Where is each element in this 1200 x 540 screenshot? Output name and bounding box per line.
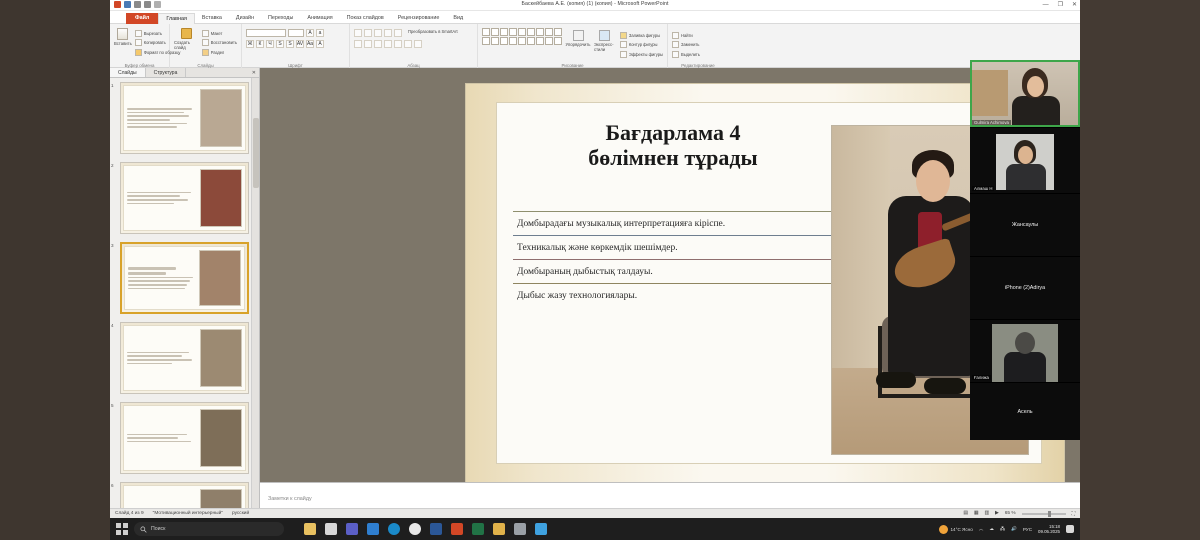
- ribbon-tab-bar: Файл Главная Вставка Дизайн Переходы Ани…: [110, 11, 1080, 24]
- sound-icon[interactable]: 🔊: [1011, 526, 1017, 532]
- slideshow-icon[interactable]: ▶: [995, 511, 999, 516]
- fit-to-window-button[interactable]: ⛶: [1072, 511, 1075, 517]
- slide-title-line2: бөлімнен тұрады: [523, 146, 823, 171]
- change-case-button[interactable]: Aa: [306, 40, 314, 48]
- tab-insert[interactable]: Вставка: [195, 13, 229, 24]
- thumbnail-text-lines: [127, 169, 198, 227]
- strikethrough-button[interactable]: S: [286, 40, 294, 48]
- select-button[interactable]: Выделить: [672, 50, 724, 58]
- slide-number: 2: [111, 163, 114, 168]
- network-icon[interactable]: 🖧: [1000, 525, 1005, 533]
- thumbnail-image: [200, 409, 242, 467]
- slide-counter: Слайд 4 из 9: [115, 511, 144, 516]
- replace-button[interactable]: Заменить: [672, 41, 724, 49]
- status-bar: Слайд 4 из 9 "Мотивационный интерьерный"…: [110, 508, 1080, 518]
- thumbnail-frame[interactable]: [120, 82, 249, 154]
- weather-text: 14°C Ясно: [951, 527, 973, 532]
- cut-icon: [135, 30, 142, 37]
- thumbnail-tabs: Слайды Структура ✕: [110, 68, 259, 78]
- shape-callout-icon[interactable]: [482, 37, 490, 45]
- increase-indent-button[interactable]: [384, 29, 392, 37]
- shape-flow-icon[interactable]: [518, 37, 526, 45]
- thumbnail-content: [123, 325, 246, 391]
- slide-inner-frame: Бағдарлама 4 бөлімнен тұрады Домбырадағы…: [496, 102, 1042, 464]
- ribbon-group-drawing: Упорядочить Экспресс-стили Заливка фигур…: [478, 24, 668, 68]
- clock-date: 09.05.2025: [1038, 529, 1060, 534]
- tab-home[interactable]: Главная: [158, 13, 195, 24]
- thumbnail-list[interactable]: 1: [110, 78, 251, 518]
- reset-button[interactable]: Восстановить: [202, 39, 237, 47]
- line-spacing-button[interactable]: [394, 29, 402, 37]
- shape-outline-icon: [620, 41, 627, 48]
- slide-number: 4: [111, 323, 114, 328]
- onedrive-icon[interactable]: ☁: [989, 526, 994, 532]
- restore-button[interactable]: ❐: [1058, 1, 1063, 9]
- work-area: Слайды Структура ✕ 1: [110, 68, 1080, 518]
- shape-pentagon-icon[interactable]: [545, 28, 553, 36]
- thumbnail-scrollbar[interactable]: [251, 78, 259, 518]
- thumbnail-content: [123, 165, 246, 231]
- system-tray: 14°C Ясно ︿ ☁ 🖧 🔊 РУС 15:18 09.05.2025: [939, 524, 1075, 534]
- new-slide-label: Создать слайд: [174, 40, 199, 50]
- powerpoint-window: Баскейбаева А.Е. (копия) (1) (копия) - M…: [110, 0, 1080, 518]
- tab-view[interactable]: Вид: [446, 13, 470, 24]
- quick-styles-label: Экспресс-стили: [594, 42, 616, 52]
- tab-review[interactable]: Рецензирование: [391, 13, 447, 24]
- paste-button[interactable]: Вставить: [114, 26, 132, 56]
- photo-shoe-right: [924, 378, 966, 394]
- format-painter-icon: [135, 49, 142, 56]
- replace-icon: [672, 41, 679, 48]
- powerpoint-icon[interactable]: [451, 523, 463, 535]
- participant-name: Gulmira Achimova: [972, 120, 1011, 125]
- weather-widget[interactable]: 14°C Ясно: [939, 525, 973, 534]
- tab-file[interactable]: Файл: [126, 13, 158, 24]
- shape-oval-icon[interactable]: [527, 28, 535, 36]
- word-icon[interactable]: [430, 523, 442, 535]
- participant-tile[interactable]: Алмаш Н: [970, 128, 1080, 194]
- columns-button[interactable]: [394, 40, 402, 48]
- theme-name[interactable]: "Мотивационный интерьерный": [153, 511, 223, 516]
- slide-number: 5: [111, 403, 114, 408]
- settings-icon[interactable]: [514, 523, 526, 535]
- thumbnail-image: [200, 329, 242, 387]
- participant-name: Жансаулы: [970, 194, 1080, 256]
- shape-star-icon[interactable]: [554, 28, 562, 36]
- edge-icon[interactable]: [388, 523, 400, 535]
- font-size-input[interactable]: [288, 29, 304, 37]
- clock[interactable]: 15:18 09.05.2025: [1038, 524, 1060, 534]
- tab-slides[interactable]: Слайды: [110, 68, 146, 77]
- folder-icon[interactable]: [493, 523, 505, 535]
- thumbnail-content: [124, 246, 245, 310]
- ribbon-group-font: A a Ж К Ч S S AV Aa A Шрифт: [242, 24, 350, 68]
- shape-chevron-icon[interactable]: [545, 37, 553, 45]
- font-name-input[interactable]: [246, 29, 286, 37]
- align-text-button[interactable]: [414, 40, 422, 48]
- notification-icon[interactable]: [1066, 525, 1074, 533]
- shape-more-icon[interactable]: [554, 37, 562, 45]
- shape-banner-icon[interactable]: [491, 37, 499, 45]
- slide-title-line1: Бағдарлама 4: [523, 121, 823, 146]
- taskbar-apps[interactable]: [304, 523, 547, 535]
- thumbnail-content: [123, 85, 246, 151]
- shape-fill-button[interactable]: Заливка фигуры: [620, 31, 663, 39]
- language-indicator[interactable]: русский: [232, 511, 249, 516]
- participant-tile[interactable]: Gulmira Achimova: [970, 60, 1080, 128]
- thumbnail-image: [200, 169, 242, 227]
- section-icon: [202, 49, 209, 56]
- reset-icon: [202, 39, 209, 46]
- list-item[interactable]: 1: [120, 82, 249, 154]
- paste-icon: [117, 28, 128, 40]
- shape-effects-icon: [620, 51, 627, 58]
- teams-icon[interactable]: [346, 523, 358, 535]
- windows-taskbar: Поиск 14°C Ясно ︿ ☁ 🖧 🔊 РУС: [110, 518, 1080, 540]
- participant-body: [1004, 352, 1046, 382]
- smartart-label: Преобразовать в SmartArt: [404, 29, 458, 37]
- tab-transitions[interactable]: Переходы: [261, 13, 300, 24]
- underline-button[interactable]: Ч: [266, 40, 274, 48]
- list-item[interactable]: 5: [120, 402, 249, 474]
- left-letterbox: [0, 0, 110, 540]
- close-button[interactable]: ✕: [1072, 1, 1077, 9]
- tab-slideshow[interactable]: Показ слайдов: [340, 13, 391, 24]
- thumbnail-frame-selected[interactable]: [120, 242, 249, 314]
- shape-triangle-icon[interactable]: [536, 28, 544, 36]
- participant-name: iPhone (2)Adirya: [970, 257, 1080, 319]
- bullet-text: Дыбыс жазу технологиялары.: [513, 284, 843, 307]
- bullet-item[interactable]: Домбырадағы музыкалық интерпретацияға кі…: [513, 211, 843, 235]
- bold-button[interactable]: Ж: [246, 40, 254, 48]
- participant-face: [1015, 332, 1035, 354]
- chrome-icon[interactable]: [409, 523, 421, 535]
- video-conference-panel: Gulmira Achimova Алмаш Н Жансаулы iPhone…: [970, 60, 1080, 440]
- participant-body: [1006, 164, 1046, 190]
- slide-bullet-list[interactable]: Домбырадағы музыкалық интерпретацияға кі…: [513, 211, 843, 307]
- shape-cube-icon[interactable]: [509, 37, 517, 45]
- slide-canvas[interactable]: Бағдарлама 4 бөлімнен тұрады Домбырадағы…: [260, 68, 1080, 518]
- search-icon: [672, 32, 679, 39]
- sun-icon: [939, 525, 948, 534]
- thumbnail-text-lines: [127, 89, 198, 147]
- shape-effects-button[interactable]: Эффекты фигуры: [620, 50, 663, 58]
- ribbon: Вставить Вырезать Копировать: [110, 24, 1080, 68]
- video-background-object: [970, 70, 1008, 116]
- slide-number: 1: [111, 83, 114, 88]
- thumbnail-frame[interactable]: [120, 322, 249, 394]
- right-letterbox: [1080, 0, 1200, 540]
- shape-gallery[interactable]: [482, 28, 562, 58]
- arrange-icon: [573, 30, 584, 41]
- start-icon[interactable]: [116, 523, 128, 535]
- justify-button[interactable]: [384, 40, 392, 48]
- shape-roundrect-icon[interactable]: [518, 28, 526, 36]
- status-right: ▤ ▦ ▥ ▶ 65 % ⛶: [963, 511, 1075, 517]
- bullet-text: Техникалық және көркемдік шешімдер.: [513, 236, 843, 259]
- list-item[interactable]: 3: [120, 242, 249, 314]
- photo-shoe-left: [876, 372, 916, 388]
- arrange-label: Упорядочить: [566, 42, 591, 47]
- thumbnail-image: [200, 89, 242, 147]
- bullet-text: Домбыраның дыбыстық талдауы.: [513, 260, 843, 283]
- participant-tile[interactable]: Жансаулы: [970, 194, 1080, 257]
- mail-icon[interactable]: [367, 523, 379, 535]
- numbering-button[interactable]: [364, 29, 372, 37]
- window-title: Баскейбаева А.Е. (копия) (1) (копия) - M…: [110, 1, 1080, 7]
- search-placeholder: Поиск: [151, 526, 165, 532]
- decrease-font-button[interactable]: a: [316, 29, 324, 37]
- file-explorer-icon[interactable]: [304, 523, 316, 535]
- shape-fill-icon: [620, 32, 627, 39]
- thumbnail-text-lines: [127, 409, 198, 467]
- layout-icon: [202, 30, 209, 37]
- shape-curve-icon[interactable]: [509, 28, 517, 36]
- participant-face: [1018, 146, 1033, 164]
- ribbon-group-clipboard: Вставить Вырезать Копировать: [110, 24, 170, 68]
- participant-body: [1012, 96, 1060, 128]
- char-spacing-button[interactable]: AV: [296, 40, 304, 48]
- tab-design[interactable]: Дизайн: [229, 13, 261, 24]
- photo-face: [916, 160, 950, 202]
- increase-font-button[interactable]: A: [306, 29, 314, 37]
- font-color-button[interactable]: A: [316, 40, 324, 48]
- participant-name: Ғалижа: [972, 375, 991, 380]
- slide-thumbnails-pane: Слайды Структура ✕ 1: [110, 68, 260, 518]
- bullet-item[interactable]: Техникалық және көркемдік шешімдер.: [513, 235, 843, 259]
- italic-button[interactable]: К: [256, 40, 264, 48]
- bullet-item[interactable]: Домбыраның дыбыстық талдауы.: [513, 259, 843, 283]
- participant-face: [1027, 76, 1044, 97]
- find-button[interactable]: Найти: [672, 31, 724, 39]
- shadow-button[interactable]: S: [276, 40, 284, 48]
- paste-label: Вставить: [114, 41, 132, 46]
- close-pane-icon[interactable]: ✕: [252, 68, 259, 77]
- quick-styles-icon: [599, 30, 610, 41]
- bullet-text: Домбырадағы музыкалық интерпретацияға кі…: [513, 212, 843, 235]
- text-direction-button[interactable]: [404, 40, 412, 48]
- normal-view-icon[interactable]: ▤: [963, 511, 968, 516]
- shape-rect-icon[interactable]: [482, 28, 490, 36]
- tab-outline[interactable]: Структура: [146, 68, 187, 77]
- ribbon-group-paragraph: Преобразовать в SmartArt Абзац: [350, 24, 478, 68]
- screen: Баскейбаева А.Е. (копия) (1) (копия) - M…: [0, 0, 1200, 540]
- ribbon-group-slides: Создать слайд Макет Восстановить: [170, 24, 242, 68]
- layout-button[interactable]: Макет: [202, 29, 237, 37]
- thumbnail-text-lines: [128, 250, 197, 306]
- participant-tile[interactable]: Ғалижа: [970, 320, 1080, 383]
- shape-cylinder-icon[interactable]: [500, 37, 508, 45]
- thumbnail-content: [123, 405, 246, 471]
- slide-number: 6: [111, 483, 114, 488]
- zoom-slider[interactable]: [1022, 513, 1066, 515]
- select-icon: [672, 51, 679, 58]
- list-item[interactable]: 2: [120, 162, 249, 234]
- shape-outline-button[interactable]: Контур фигуры: [620, 41, 663, 49]
- slide-number: 3: [111, 243, 114, 248]
- new-slide-icon: [181, 28, 192, 39]
- notes-placeholder: Заметки к слайду: [268, 496, 312, 502]
- shape-heart-icon[interactable]: [527, 37, 535, 45]
- search-icon: [140, 526, 147, 533]
- minimize-button[interactable]: —: [1043, 1, 1049, 9]
- participant-name: Асель: [970, 383, 1080, 440]
- align-center-button[interactable]: [364, 40, 372, 48]
- thumbnail-frame[interactable]: [120, 162, 249, 234]
- sorter-view-icon[interactable]: ▦: [974, 511, 979, 516]
- align-right-button[interactable]: [374, 40, 382, 48]
- title-bar: Баскейбаева А.Е. (копия) (1) (копия) - M…: [110, 0, 1080, 11]
- show-hidden-icons[interactable]: ︿: [979, 526, 984, 532]
- window-controls[interactable]: — ❐ ✕: [1043, 1, 1077, 9]
- thumbnail-frame[interactable]: [120, 402, 249, 474]
- participant-tile[interactable]: Асель: [970, 383, 1080, 440]
- excel-icon[interactable]: [472, 523, 484, 535]
- tab-animations[interactable]: Анимация: [300, 13, 339, 24]
- decrease-indent-button[interactable]: [374, 29, 382, 37]
- bullet-item[interactable]: Дыбыс жазу технологиялары.: [513, 283, 843, 307]
- store-icon[interactable]: [325, 523, 337, 535]
- search-input[interactable]: Поиск: [134, 522, 284, 536]
- reading-view-icon[interactable]: ▥: [984, 511, 989, 516]
- section-button[interactable]: Раздел: [202, 48, 237, 56]
- list-item[interactable]: 4: [120, 322, 249, 394]
- thumbnail-text-lines: [127, 329, 198, 387]
- scrollbar-thumb[interactable]: [253, 118, 259, 188]
- shape-cross-icon[interactable]: [536, 37, 544, 45]
- player-icon[interactable]: [535, 523, 547, 535]
- align-left-button[interactable]: [354, 40, 362, 48]
- language-indicator-tray[interactable]: РУС: [1023, 527, 1032, 532]
- copy-icon: [135, 39, 142, 46]
- ribbon-group-editing: Найти Заменить Выделить Редактирование: [668, 24, 728, 68]
- participant-name: Алмаш Н: [972, 186, 994, 191]
- shape-arrow-icon[interactable]: [500, 28, 508, 36]
- arrange-button[interactable]: Упорядочить: [566, 28, 590, 58]
- shape-line-icon[interactable]: [491, 28, 499, 36]
- slide-title[interactable]: Бағдарлама 4 бөлімнен тұрады: [523, 121, 823, 170]
- thumbnail-image: [199, 250, 241, 306]
- participant-tile[interactable]: iPhone (2)Adirya: [970, 257, 1080, 320]
- bullets-button[interactable]: [354, 29, 362, 37]
- zoom-slider-knob[interactable]: [1048, 511, 1051, 517]
- quick-styles-button[interactable]: Экспресс-стили: [594, 28, 616, 58]
- new-slide-button[interactable]: Создать слайд: [174, 26, 199, 56]
- zoom-level[interactable]: 65 %: [1005, 511, 1016, 516]
